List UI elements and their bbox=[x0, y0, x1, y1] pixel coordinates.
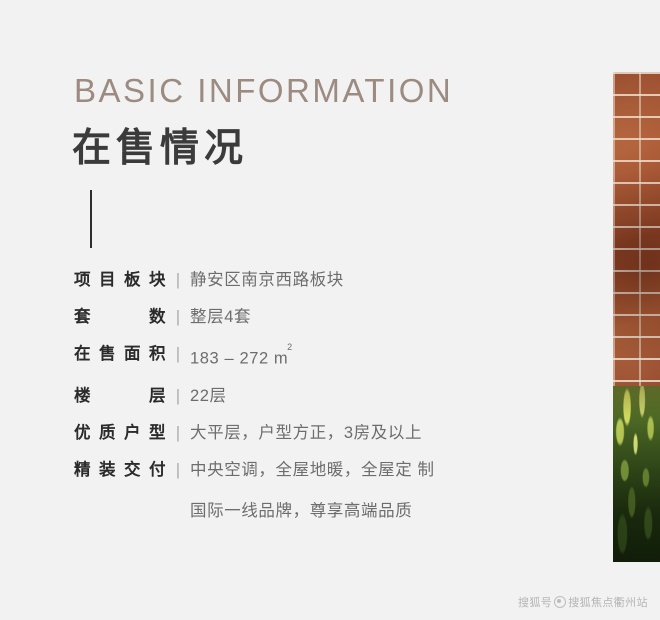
spec-separator: | bbox=[166, 421, 190, 445]
brick-wall-photo bbox=[613, 72, 660, 562]
spec-label: 套数 bbox=[74, 305, 166, 329]
spec-value: 183 – 272m2 bbox=[190, 342, 544, 371]
title-divider-rule bbox=[90, 190, 92, 248]
brick-texture bbox=[613, 72, 660, 425]
spec-label: 楼层 bbox=[74, 384, 166, 408]
foliage-texture bbox=[613, 386, 660, 562]
spec-separator: | bbox=[166, 305, 190, 329]
spec-label: 在售面积 bbox=[74, 342, 166, 366]
spec-value: 中央空调，全屋地暖，全屋定 制 国际一线品牌，尊享高端品质 bbox=[190, 458, 544, 523]
spec-value: 22层 bbox=[190, 384, 544, 408]
spec-separator: | bbox=[166, 458, 190, 482]
sohu-logo-icon bbox=[554, 596, 566, 608]
spec-label: 优质户型 bbox=[74, 421, 166, 445]
area-range: 183 – 272 bbox=[190, 350, 269, 368]
spec-separator: | bbox=[166, 268, 190, 292]
spec-value: 大平层，户型方正，3房及以上 bbox=[190, 421, 544, 445]
watermark: 搜狐号 搜狐焦点衢州站 bbox=[518, 594, 648, 610]
poster-canvas: BASIC INFORMATION 在售情况 项目板块 | 静安区南京西路板块 … bbox=[0, 0, 660, 620]
area-unit: m2 bbox=[274, 342, 294, 371]
spec-value: 整层4套 bbox=[190, 305, 544, 329]
page-title: 在售情况 bbox=[72, 117, 248, 173]
spec-row: 精装交付 | 中央空调，全屋地暖，全屋定 制 国际一线品牌，尊享高端品质 bbox=[74, 458, 544, 523]
section-eyebrow: BASIC INFORMATION bbox=[74, 72, 453, 110]
area-unit-base: m bbox=[274, 350, 288, 368]
spec-row: 楼层 | 22层 bbox=[74, 384, 544, 408]
spec-label: 项目板块 bbox=[74, 268, 166, 292]
spec-value-line1: 中央空调，全屋地暖，全屋定 制 bbox=[190, 461, 435, 479]
spec-label: 精装交付 bbox=[74, 458, 166, 482]
spec-value-line2: 国际一线品牌，尊享高端品质 bbox=[190, 499, 544, 523]
spec-separator: | bbox=[166, 342, 190, 366]
spec-row: 套数 | 整层4套 bbox=[74, 305, 544, 329]
spec-row: 在售面积 | 183 – 272m2 bbox=[74, 342, 544, 371]
spec-list: 项目板块 | 静安区南京西路板块 套数 | 整层4套 在售面积 | 183 – … bbox=[74, 268, 544, 536]
area-unit-exponent: 2 bbox=[287, 342, 293, 352]
spec-row: 项目板块 | 静安区南京西路板块 bbox=[74, 268, 544, 292]
spec-value: 静安区南京西路板块 bbox=[190, 268, 544, 292]
watermark-suffix: 搜狐焦点衢州站 bbox=[568, 594, 648, 610]
spec-separator: | bbox=[166, 384, 190, 408]
watermark-prefix: 搜狐号 bbox=[518, 594, 552, 610]
spec-row: 优质户型 | 大平层，户型方正，3房及以上 bbox=[74, 421, 544, 445]
